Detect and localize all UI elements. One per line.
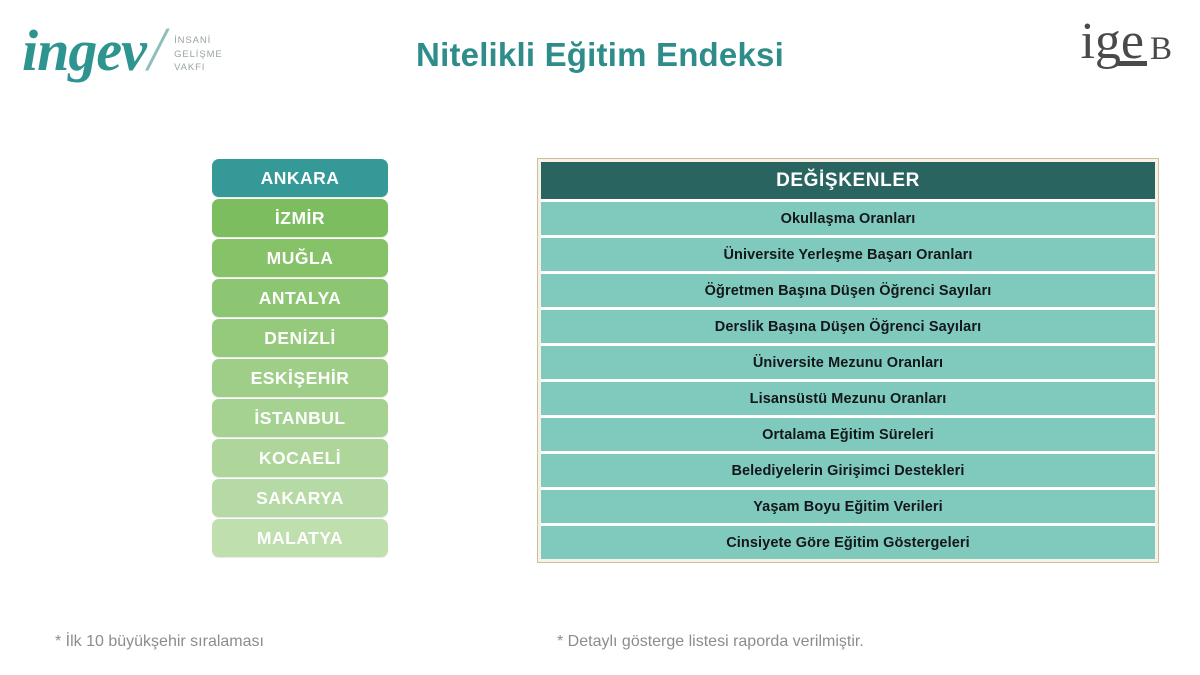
table-row: Belediyelerin Girişimci Destekleri: [541, 451, 1155, 487]
table-cell-variable: Belediyelerin Girişimci Destekleri: [731, 463, 964, 479]
table-row: Yaşam Boyu Eğitim Verileri: [541, 487, 1155, 523]
table-cell-variable: Okullaşma Oranları: [781, 211, 916, 227]
table-row: Öğretmen Başına Düşen Öğrenci Sayıları: [541, 271, 1155, 307]
table-row: Üniversite Yerleşme Başarı Oranları: [541, 235, 1155, 271]
table-cell-variable: Lisansüstü Mezunu Oranları: [750, 391, 947, 407]
table-cell-variable: Derslik Başına Düşen Öğrenci Sayıları: [715, 319, 981, 335]
variables-table-header-label: DEĞİŞKENLER: [776, 170, 920, 192]
table-cell-variable: Ortalama Eğitim Süreleri: [762, 427, 934, 443]
city-pill-6[interactable]: ESKİŞEHİR: [212, 359, 388, 397]
city-pill-label: ANKARA: [261, 168, 340, 189]
city-pill-label: İZMİR: [275, 208, 325, 229]
city-pill-8[interactable]: KOCAELİ: [212, 439, 388, 477]
table-row: Derslik Başına Düşen Öğrenci Sayıları: [541, 307, 1155, 343]
table-cell-variable: Cinsiyete Göre Eğitim Göstergeleri: [726, 535, 970, 551]
table-row: Üniversite Mezunu Oranları: [541, 343, 1155, 379]
city-pill-4[interactable]: ANTALYA: [212, 279, 388, 317]
table-row: Cinsiyete Göre Eğitim Göstergeleri: [541, 523, 1155, 559]
slide-canvas: ingev / İNSANİ GELİŞME VAKFI ige B Nitel…: [0, 0, 1200, 675]
table-cell-variable: Üniversite Mezunu Oranları: [753, 355, 943, 371]
city-pill-10[interactable]: MALATYA: [212, 519, 388, 557]
city-ranking-list: ANKARA İZMİR MUĞLA ANTALYA DENİZLİ ESKİŞ…: [212, 159, 388, 559]
city-pill-label: ANTALYA: [259, 288, 342, 309]
city-pill-label: MUĞLA: [267, 248, 334, 269]
table-row: Lisansüstü Mezunu Oranları: [541, 379, 1155, 415]
city-pill-label: İSTANBUL: [254, 408, 345, 429]
city-pill-9[interactable]: SAKARYA: [212, 479, 388, 517]
city-pill-3[interactable]: MUĞLA: [212, 239, 388, 277]
variables-table-header: DEĞİŞKENLER: [541, 162, 1155, 199]
city-pill-7[interactable]: İSTANBUL: [212, 399, 388, 437]
table-cell-variable: Öğretmen Başına Düşen Öğrenci Sayıları: [705, 283, 992, 299]
city-pill-label: ESKİŞEHİR: [251, 368, 350, 389]
footnote-city-ranking: * İlk 10 büyükşehir sıralaması: [55, 633, 264, 651]
variables-table: DEĞİŞKENLER Okullaşma Oranları Üniversit…: [537, 158, 1159, 563]
city-pill-label: KOCAELİ: [259, 448, 341, 469]
footnote-variables-table: * Detaylı gösterge listesi raporda veril…: [557, 633, 864, 651]
city-pill-5[interactable]: DENİZLİ: [212, 319, 388, 357]
table-row: Okullaşma Oranları: [541, 199, 1155, 235]
table-row: Ortalama Eğitim Süreleri: [541, 415, 1155, 451]
table-cell-variable: Yaşam Boyu Eğitim Verileri: [753, 499, 943, 515]
city-pill-1[interactable]: ANKARA: [212, 159, 388, 197]
table-cell-variable: Üniversite Yerleşme Başarı Oranları: [723, 247, 972, 263]
city-pill-label: SAKARYA: [256, 488, 344, 509]
city-pill-label: DENİZLİ: [264, 328, 336, 349]
page-title: Nitelikli Eğitim Endeksi: [0, 36, 1200, 74]
city-pill-label: MALATYA: [257, 528, 343, 549]
city-pill-2[interactable]: İZMİR: [212, 199, 388, 237]
